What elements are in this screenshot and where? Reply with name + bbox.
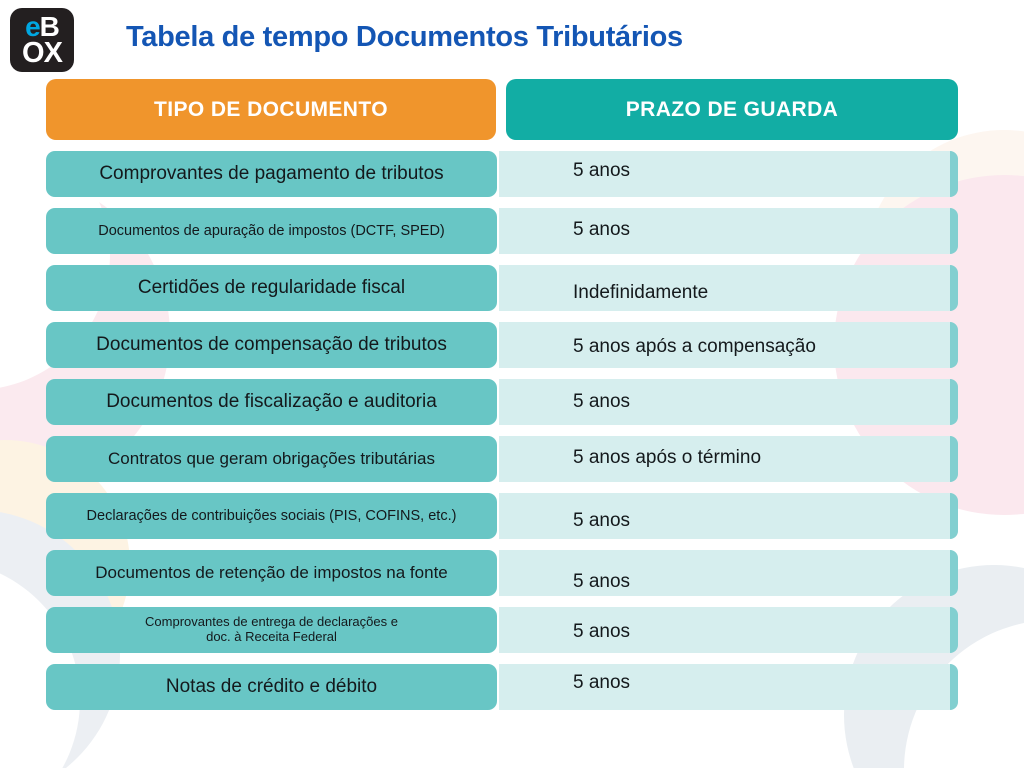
cell-prazo-text: 5 anos <box>573 219 630 241</box>
slide-canvas: eB OX Tabela de tempo Documentos Tributá… <box>0 0 1024 768</box>
cell-prazo: 5 anos <box>499 550 958 596</box>
column-header-prazo-de-guarda: PRAZO DE GUARDA <box>506 79 958 140</box>
cell-documento: Contratos que geram obrigações tributári… <box>46 436 497 482</box>
cell-documento: Comprovantes de pagamento de tributos <box>46 151 497 197</box>
cell-documento: Documentos de fiscalização e auditoria <box>46 379 497 425</box>
cell-prazo: Indefinidamente <box>499 265 958 311</box>
cell-documento: Comprovantes de entrega de declarações e… <box>46 607 497 653</box>
table-row[interactable]: Declarações de contribuições sociais (PI… <box>0 493 1024 539</box>
cell-prazo-right-edge <box>950 322 958 368</box>
cell-documento: Documentos de retenção de impostos na fo… <box>46 550 497 596</box>
page-title: Tabela de tempo Documentos Tributários <box>126 21 683 54</box>
cell-prazo: 5 anos <box>499 151 958 197</box>
cell-prazo-right-edge <box>950 265 958 311</box>
cell-prazo: 5 anos <box>499 208 958 254</box>
cell-prazo-right-edge <box>950 379 958 425</box>
table-row[interactable]: Documentos de compensação de tributos5 a… <box>0 322 1024 368</box>
cell-prazo-text: 5 anos <box>573 621 630 643</box>
logo-bottom-text: OX <box>10 38 74 69</box>
cell-prazo: 5 anos após a compensação <box>499 322 958 368</box>
cell-prazo-text: 5 anos <box>573 160 630 182</box>
cell-prazo: 5 anos <box>499 379 958 425</box>
cell-prazo: 5 anos <box>499 664 958 710</box>
cell-documento: Certidões de regularidade fiscal <box>46 265 497 311</box>
table-row[interactable]: Comprovantes de entrega de declarações e… <box>0 607 1024 653</box>
cell-prazo-text: 5 anos <box>573 510 630 532</box>
ebox-logo: eB OX <box>10 8 74 72</box>
cell-prazo-text: 5 anos <box>573 672 630 694</box>
table-row[interactable]: Documentos de retenção de impostos na fo… <box>0 550 1024 596</box>
table-row[interactable]: Certidões de regularidade fiscalIndefini… <box>0 265 1024 311</box>
cell-prazo-right-edge <box>950 550 958 596</box>
cell-prazo-text: 5 anos <box>573 391 630 413</box>
retention-table: TIPO DE DOCUMENTO PRAZO DE GUARDA Compro… <box>0 0 1024 768</box>
table-row[interactable]: Contratos que geram obrigações tributári… <box>0 436 1024 482</box>
table-row[interactable]: Documentos de fiscalização e auditoria5 … <box>0 379 1024 425</box>
cell-prazo-right-edge <box>950 151 958 197</box>
cell-prazo-text: Indefinidamente <box>573 282 708 304</box>
column-header-tipo-de-documento: TIPO DE DOCUMENTO <box>46 79 496 140</box>
cell-prazo-right-edge <box>950 493 958 539</box>
cell-prazo: 5 anos <box>499 607 958 653</box>
cell-prazo-right-edge <box>950 664 958 710</box>
cell-documento: Documentos de apuração de impostos (DCTF… <box>46 208 497 254</box>
table-row[interactable]: Comprovantes de pagamento de tributos5 a… <box>0 151 1024 197</box>
cell-prazo-text: 5 anos <box>573 571 630 593</box>
cell-prazo: 5 anos <box>499 493 958 539</box>
cell-prazo-text: 5 anos após a compensação <box>573 336 816 358</box>
cell-prazo-right-edge <box>950 607 958 653</box>
cell-prazo-right-edge <box>950 208 958 254</box>
cell-prazo: 5 anos após o término <box>499 436 958 482</box>
cell-prazo-right-edge <box>950 436 958 482</box>
cell-prazo-text: 5 anos após o término <box>573 447 761 469</box>
cell-documento: Notas de crédito e débito <box>46 664 497 710</box>
table-row[interactable]: Documentos de apuração de impostos (DCTF… <box>0 208 1024 254</box>
cell-documento: Documentos de compensação de tributos <box>46 322 497 368</box>
table-row[interactable]: Notas de crédito e débito5 anos <box>0 664 1024 710</box>
cell-documento: Declarações de contribuições sociais (PI… <box>46 493 497 539</box>
